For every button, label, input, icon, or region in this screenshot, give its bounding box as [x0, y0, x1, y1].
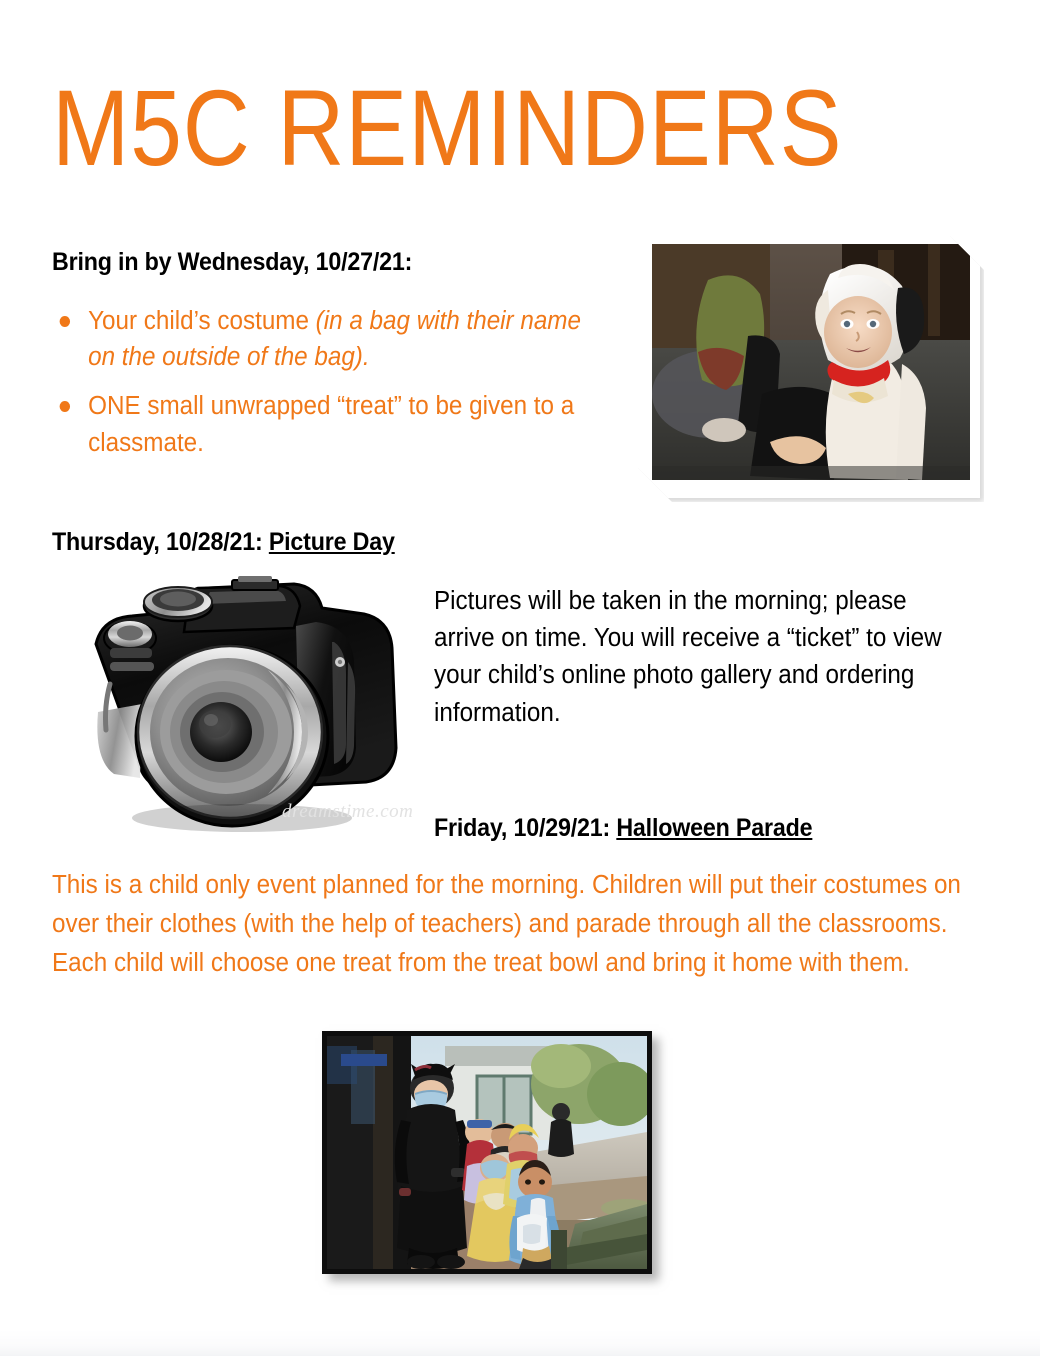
halloween-parade-photo	[322, 1031, 652, 1274]
picture-day-body: Pictures will be taken in the morning; p…	[434, 583, 966, 732]
list-item: ONE small unwrapped “treat” to be given …	[52, 388, 594, 460]
bullet-text-plain: Your child’s costume	[88, 307, 316, 335]
friday-event: Halloween Parade	[616, 814, 812, 842]
page-bottom-edge	[0, 1330, 1040, 1356]
friday-date: Friday, 10/29/21:	[434, 814, 616, 842]
list-item: Your child’s costume (in a bag with thei…	[52, 303, 594, 375]
thursday-date: Thursday, 10/28/21:	[52, 528, 269, 556]
photo-frame	[634, 232, 980, 498]
photo-image	[327, 1036, 647, 1269]
halloween-parade-body: This is a child only event planned for t…	[52, 866, 988, 982]
friday-heading: Friday, 10/29/21: Halloween Parade	[434, 813, 812, 844]
thursday-heading: Thursday, 10/28/21: Picture Day	[52, 527, 395, 558]
document-page: M5C REMINDERS Bring in by Wednesday, 10/…	[0, 0, 1040, 1356]
bullet-text-plain: ONE small unwrapped “treat” to be given …	[88, 392, 574, 456]
bring-in-bullet-list: Your child’s costume (in a bag with thei…	[52, 303, 622, 474]
page-title: M5C REMINDERS	[52, 74, 860, 182]
parade-photo-illustration	[327, 1036, 647, 1269]
bring-in-heading: Bring in by Wednesday, 10/27/21:	[52, 247, 412, 278]
dslr-camera-clipart: dreamstime.com	[72, 566, 398, 848]
child-in-costume-photo	[634, 232, 980, 498]
photo-image	[652, 244, 970, 480]
costume-photo-illustration	[652, 244, 970, 480]
thursday-event: Picture Day	[269, 528, 395, 556]
dreamstime-watermark: dreamstime.com	[282, 801, 413, 823]
